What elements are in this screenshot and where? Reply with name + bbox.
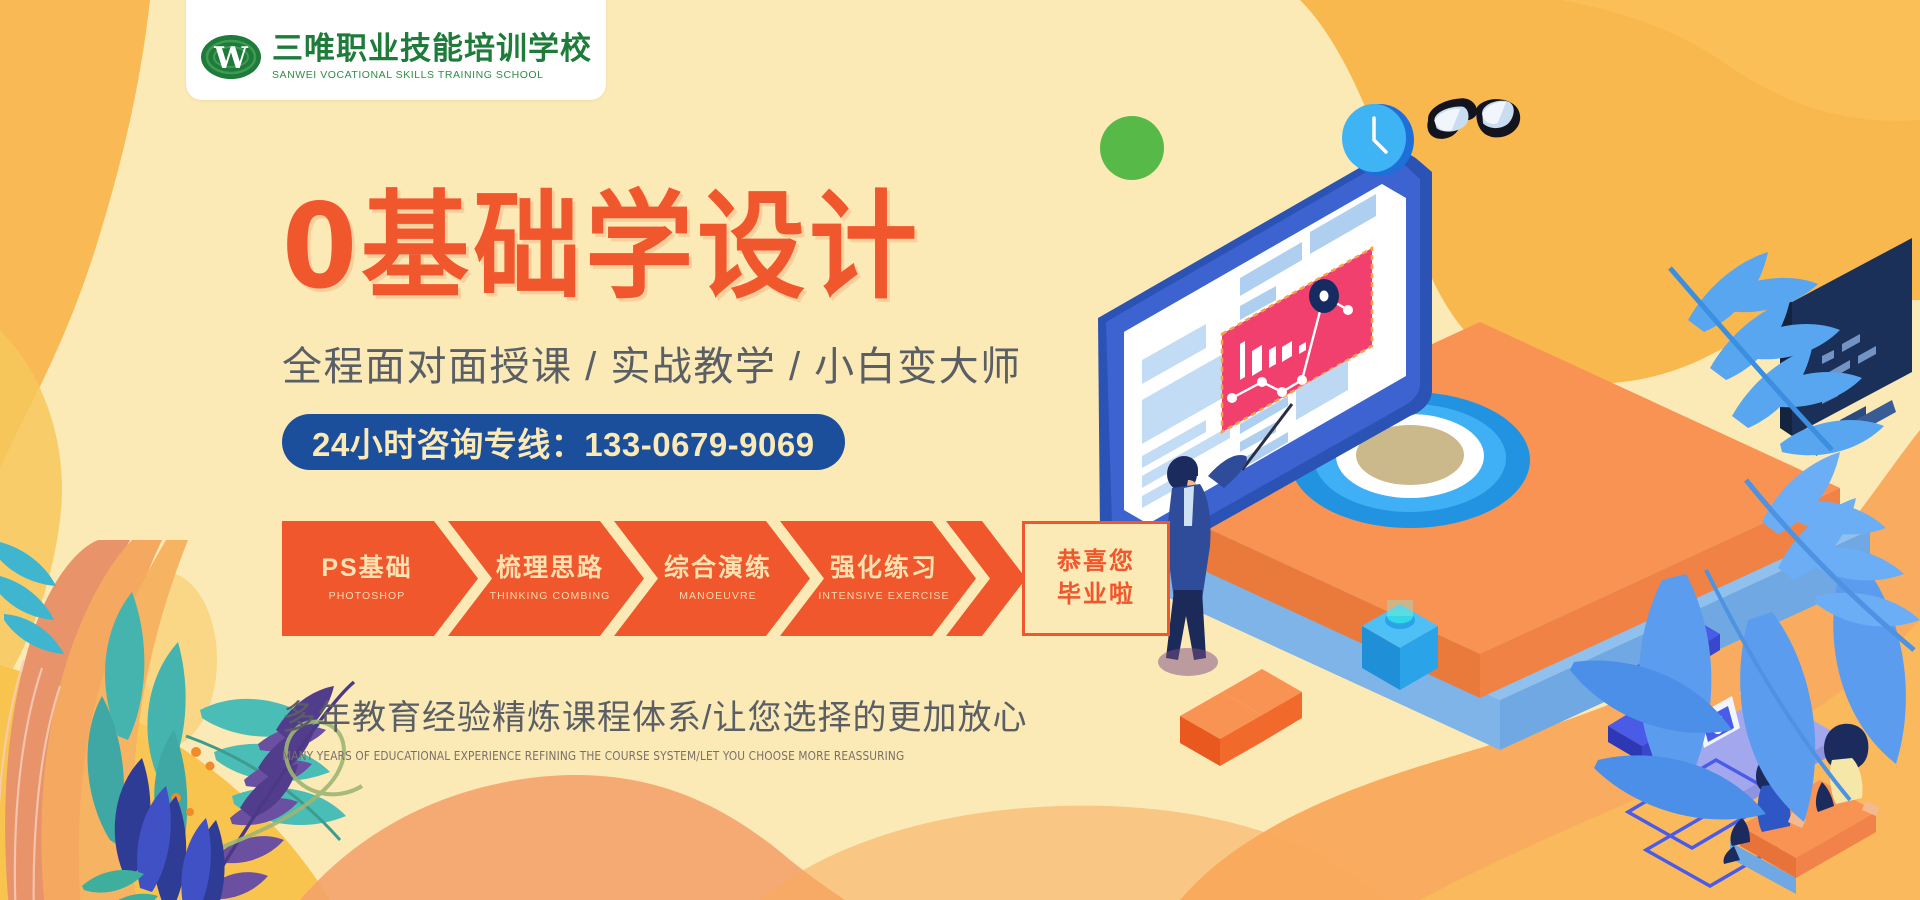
logo-card[interactable]: W 三唯职业技能培训学校 SANWEI VOCATIONAL SKILLS TR… — [186, 0, 606, 100]
step-blocks — [1180, 669, 1302, 766]
step-1-label-cn: PS基础 — [321, 556, 412, 581]
step-4-label-en: INTENSIVE EXERCISE — [818, 590, 949, 602]
tagline-cn: 多年教育经验精炼课程体系/让您选择的更加放心 — [282, 690, 1027, 739]
banner-stage: W 三唯职业技能培训学校 SANWEI VOCATIONAL SKILLS TR… — [0, 0, 1920, 900]
step-1-label-en: PHOTOSHOP — [329, 590, 406, 602]
svg-text:W: W — [213, 41, 249, 76]
step-4-label-cn: 强化练习 — [830, 556, 938, 581]
step-1[interactable]: PS基础 PHOTOSHOP — [282, 521, 452, 636]
step-2-label-cn: 梳理思路 — [496, 556, 604, 581]
logo-name-en: SANWEI VOCATIONAL SKILLS TRAINING SCHOOL — [272, 69, 592, 81]
logo-name-cn: 三唯职业技能培训学校 — [272, 33, 592, 66]
step-3-label-cn: 综合演练 — [664, 556, 772, 581]
green-circle-decor — [1100, 116, 1164, 180]
final-line-1: 恭喜您 — [1057, 546, 1135, 578]
step-2-label-en: THINKING COMBING — [490, 590, 611, 602]
step-final-congratulations[interactable]: 恭喜您 毕业啦 — [1022, 521, 1170, 636]
right-foliage-decoration — [1510, 150, 1920, 870]
sub-headline: 全程面对面授课 / 实战教学 / 小白变大师 — [282, 334, 1182, 392]
course-steps: PS基础 PHOTOSHOP 梳理思路 THINKING COMBING 综合演… — [282, 521, 1170, 636]
final-line-2: 毕业啦 — [1057, 579, 1135, 611]
tagline-block: 多年教育经验精炼课程体系/让您选择的更加放心 MANY YEARS OF EDU… — [282, 690, 1027, 763]
phone-hotline-pill[interactable]: 24小时咨询专线：133-0679-9069 — [282, 414, 845, 470]
step-3-label-en: MANOEUVRE — [679, 590, 757, 602]
tagline-en: MANY YEARS OF EDUCATIONAL EXPERIENCE REF… — [282, 748, 983, 763]
hero-copy: 0基础学设计 全程面对面授课 / 实战教学 / 小白变大师 24小时咨询专线：1… — [282, 190, 1182, 470]
step-4[interactable]: 强化练习 INTENSIVE EXERCISE — [794, 521, 974, 636]
w-oval-logo-icon: W — [200, 26, 262, 88]
headline: 0基础学设计 — [282, 190, 1182, 307]
step-2[interactable]: 梳理思路 THINKING COMBING — [460, 521, 640, 636]
eyeglasses — [1422, 83, 1525, 157]
wall-clock — [1342, 104, 1414, 176]
step-3[interactable]: 综合演练 MANOEUVRE — [628, 521, 808, 636]
